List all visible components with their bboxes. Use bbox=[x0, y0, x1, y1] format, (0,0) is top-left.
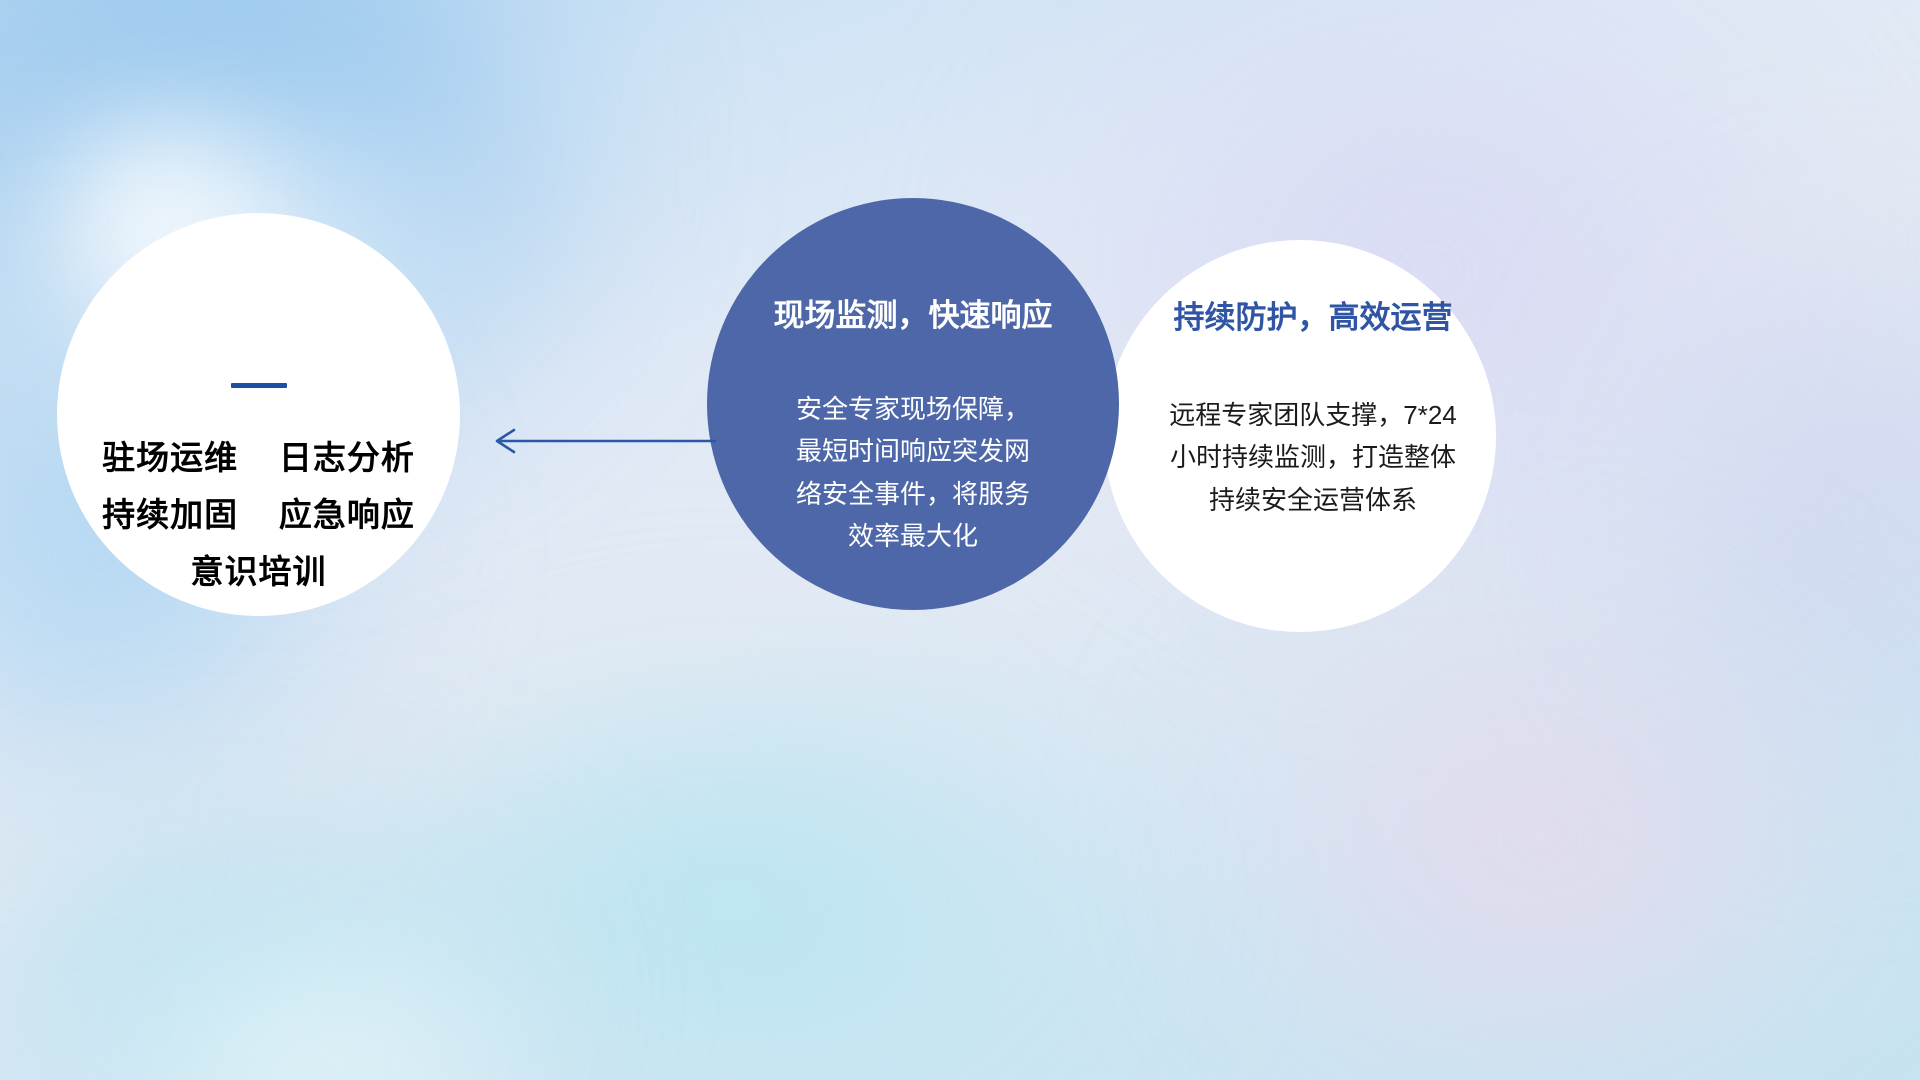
left-capability-line-2: 持续加固 应急响应 bbox=[57, 487, 460, 544]
divider-rule-icon bbox=[231, 383, 287, 388]
left-circle-content: 驻场运维 日志分析 持续加固 应急响应 意识培训 bbox=[57, 383, 460, 600]
mid-monitoring-circle[interactable]: 现场监测，快速响应 安全专家现场保障， 最短时间响应突发网 络安全事件，将服务 … bbox=[707, 198, 1119, 610]
mid-circle-content: 现场监测，快速响应 安全专家现场保障， 最短时间响应突发网 络安全事件，将服务 … bbox=[707, 296, 1119, 557]
mid-circle-body: 安全专家现场保障， 最短时间响应突发网 络安全事件，将服务 效率最大化 bbox=[729, 388, 1097, 556]
right-body-line-3: 持续安全运营体系 bbox=[1150, 479, 1476, 521]
mid-body-line-3: 络安全事件，将服务 bbox=[729, 473, 1097, 515]
mid-body-line-4: 效率最大化 bbox=[729, 515, 1097, 557]
right-body-line-2: 小时持续监测，打造整体 bbox=[1150, 436, 1476, 478]
left-capability-line-3: 意识培训 bbox=[57, 544, 460, 601]
right-circle-content: 持续防护，高效运营 远程专家团队支撑，7*24 小时持续监测，打造整体 持续安全… bbox=[1104, 298, 1496, 521]
right-circle-title: 持续防护，高效运营 bbox=[1150, 298, 1476, 338]
left-capability-line-1: 驻场运维 日志分析 bbox=[57, 430, 460, 487]
mid-body-line-2: 最短时间响应突发网 bbox=[729, 430, 1097, 472]
right-circle-body: 远程专家团队支撑，7*24 小时持续监测，打造整体 持续安全运营体系 bbox=[1150, 394, 1476, 520]
slide-canvas: 驻场运维 日志分析 持续加固 应急响应 意识培训 持续防护，高效运营 远程专家团… bbox=[0, 0, 1920, 1080]
mid-body-line-1: 安全专家现场保障， bbox=[729, 388, 1097, 430]
mid-circle-title: 现场监测，快速响应 bbox=[729, 296, 1097, 336]
left-summary-circle[interactable]: 驻场运维 日志分析 持续加固 应急响应 意识培训 bbox=[57, 213, 460, 616]
flow-arrow-left-icon bbox=[488, 420, 718, 462]
right-body-line-1: 远程专家团队支撑，7*24 bbox=[1150, 394, 1476, 436]
right-operations-circle[interactable]: 持续防护，高效运营 远程专家团队支撑，7*24 小时持续监测，打造整体 持续安全… bbox=[1104, 240, 1496, 632]
